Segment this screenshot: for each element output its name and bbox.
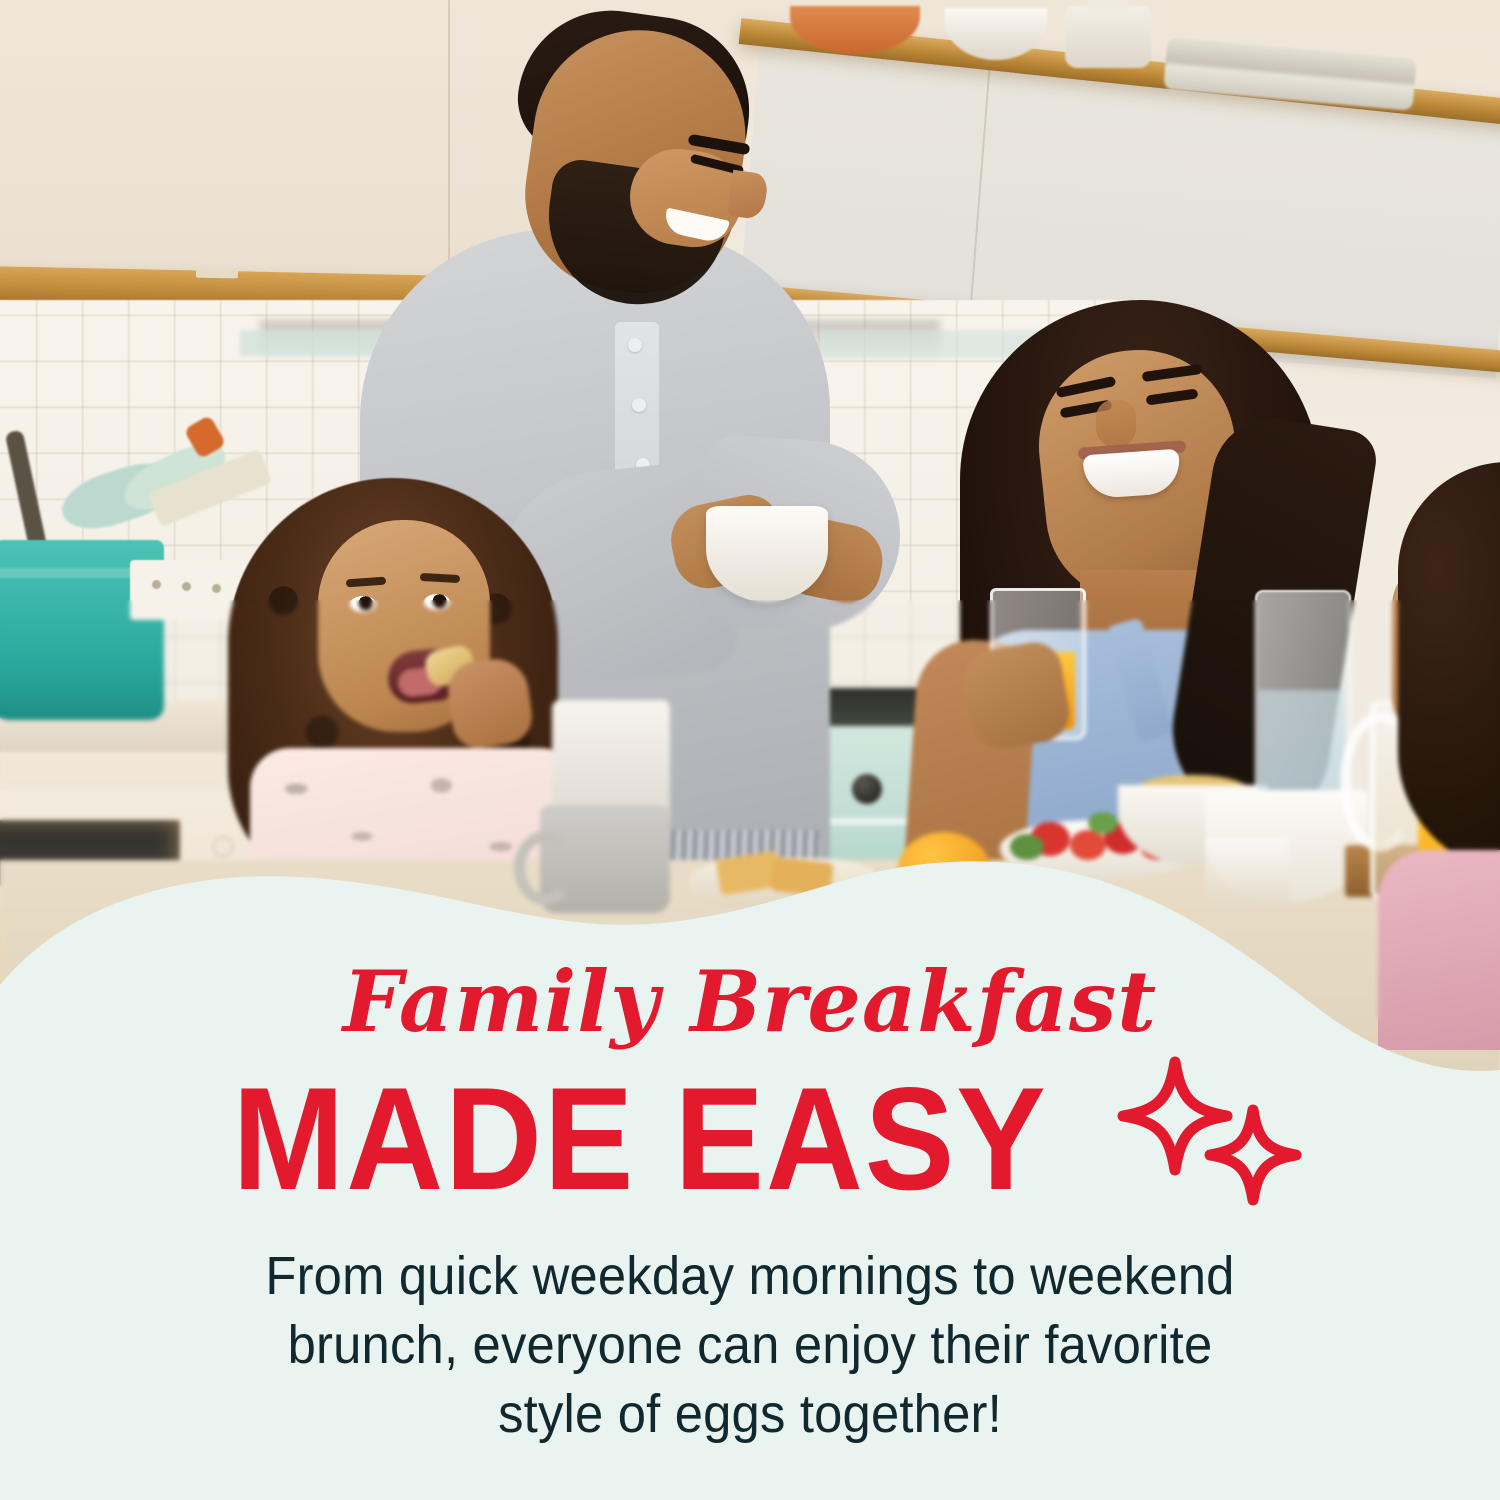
shirt-button-icon bbox=[632, 398, 646, 412]
mother-nose bbox=[1096, 400, 1136, 448]
daughter-eye bbox=[350, 596, 376, 612]
shirt-button-icon bbox=[628, 338, 642, 352]
daughter-eye bbox=[424, 594, 450, 610]
stove-knob-icon bbox=[852, 774, 882, 804]
hero-text-block: Family Breakfast MADE EASY From quick we… bbox=[0, 960, 1500, 1449]
mint-leaf-icon bbox=[1010, 834, 1044, 860]
upper-cabinet-left bbox=[0, 0, 540, 280]
headline-row: MADE EASY bbox=[0, 1054, 1500, 1224]
toast-slice-icon bbox=[770, 857, 833, 897]
dishwasher-knob-icon bbox=[212, 836, 234, 858]
mint-leaf-icon bbox=[1088, 812, 1118, 834]
orange-fruit-icon bbox=[898, 832, 990, 906]
cabinet-handle bbox=[196, 268, 238, 279]
hero-subtext: From quick weekday mornings to weekend b… bbox=[257, 1242, 1244, 1449]
strawberry-icon bbox=[1070, 830, 1106, 860]
page-title: MADE EASY bbox=[232, 1069, 1047, 1209]
gray-mug bbox=[540, 805, 670, 913]
ceramic-jar-icon bbox=[1065, 6, 1151, 68]
script-title: Family Breakfast bbox=[0, 960, 1500, 1044]
glass-tumbler bbox=[1205, 838, 1289, 912]
sparkle-star-icon bbox=[1113, 1054, 1303, 1224]
poster: Family Breakfast MADE EASY From quick we… bbox=[0, 0, 1500, 1500]
second-child-hair bbox=[1398, 462, 1500, 872]
